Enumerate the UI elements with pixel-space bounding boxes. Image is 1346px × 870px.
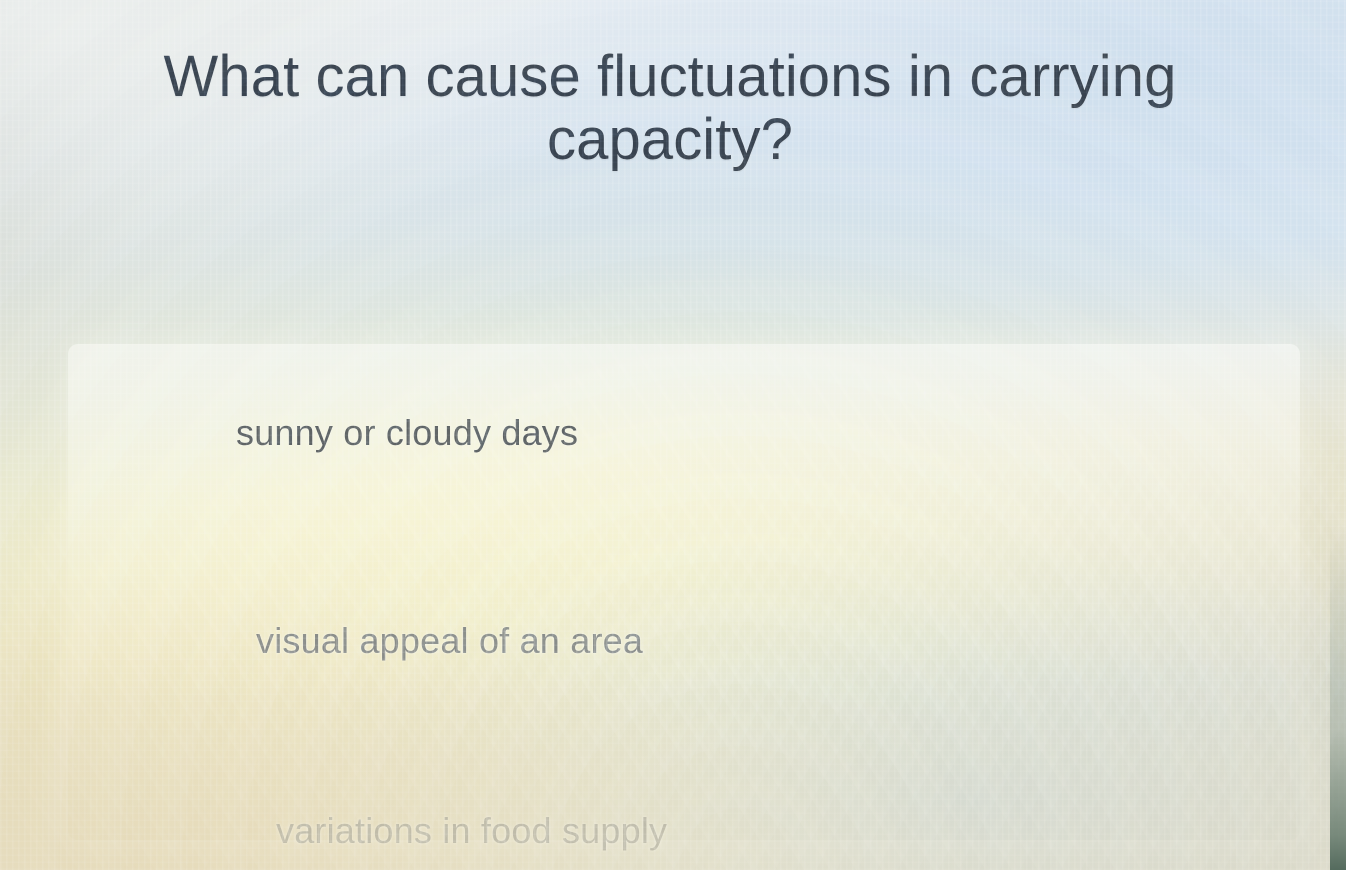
question-line-2: capacity?	[547, 107, 793, 172]
question-text: What can cause fluctuations in carrying …	[90, 46, 1250, 171]
question-line-1: What can cause fluctuations in carrying	[164, 44, 1177, 109]
answer-option-sunny-or-cloudy-days[interactable]: sunny or cloudy days	[236, 412, 578, 454]
quiz-screen: What can cause fluctuations in carrying …	[0, 0, 1346, 870]
answer-option-visual-appeal-of-an-area[interactable]: visual appeal of an area	[256, 620, 643, 662]
answer-option-variations-in-food-supply[interactable]: variations in food supply	[276, 810, 667, 852]
answer-options-list: sunny or cloudy days visual appeal of an…	[0, 344, 1346, 870]
quiz-content: What can cause fluctuations in carrying …	[0, 0, 1346, 870]
